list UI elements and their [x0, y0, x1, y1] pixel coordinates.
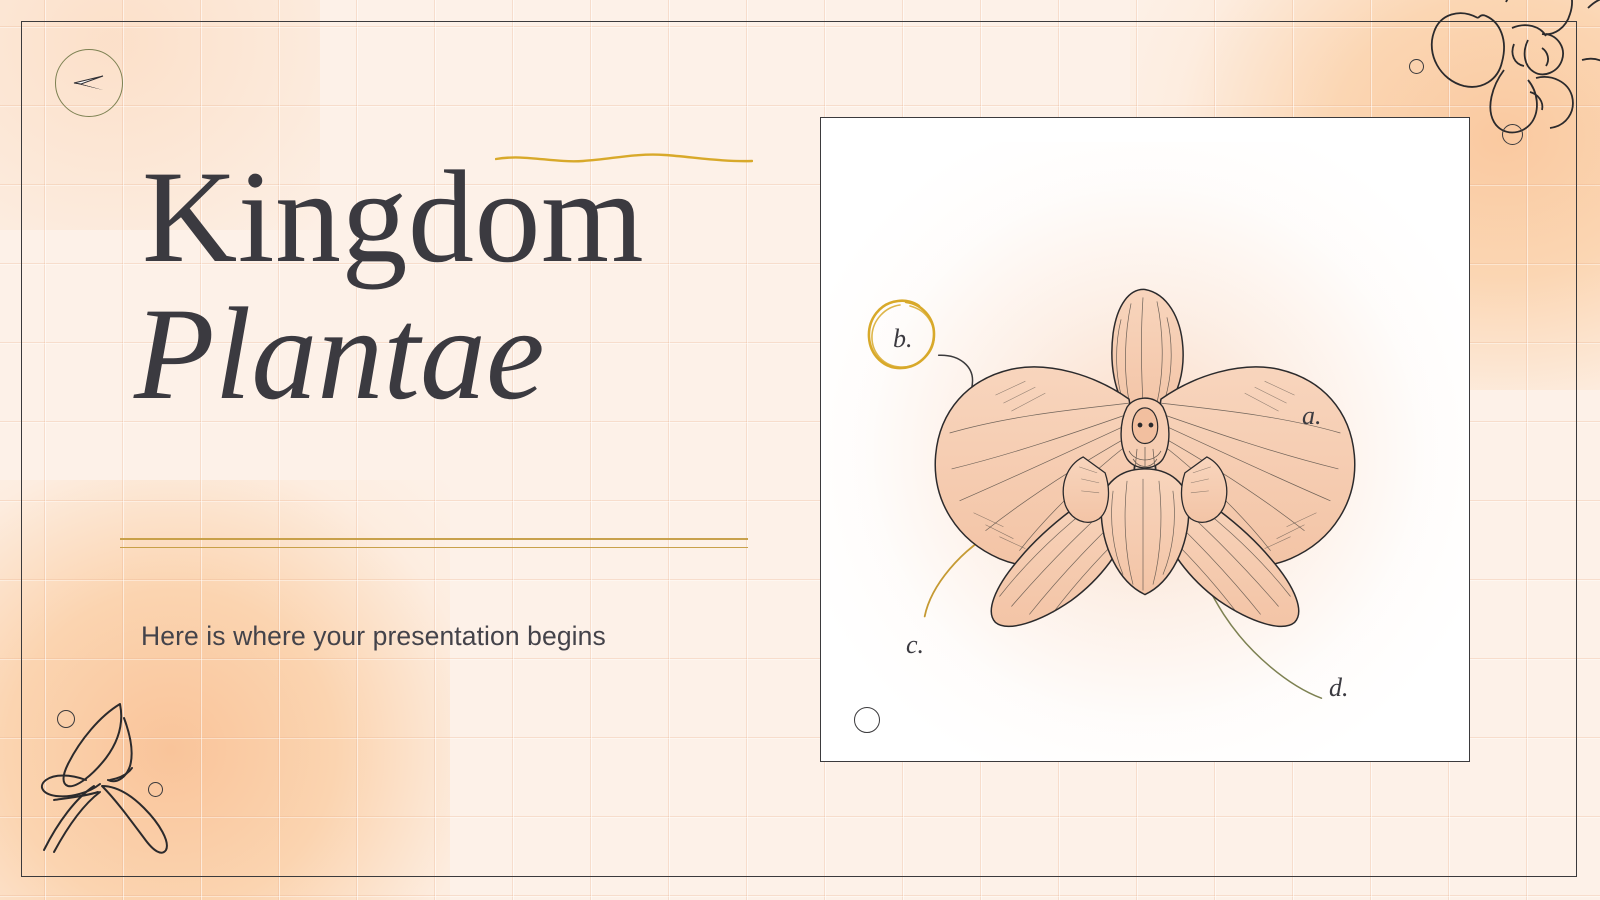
diagram-card: a. b. c. d. [820, 117, 1470, 762]
title-block: Kingdom Plantae [120, 150, 800, 421]
decorative-circle-1 [1409, 59, 1424, 74]
decorative-circle-4 [148, 782, 163, 797]
card-corner-circle [854, 707, 880, 733]
presentation-slide: Kingdom Plantae Here is where your prese… [0, 0, 1600, 900]
diagram-label-d: d. [1329, 673, 1349, 703]
orchid-bloom-outline-icon [1382, 0, 1600, 164]
diagram-label-b: b. [893, 324, 913, 354]
title-squiggle-underline [495, 150, 753, 168]
page-title-secondary: Plantae [134, 287, 800, 422]
orchid-bud-outline-icon [24, 682, 214, 872]
diagram-label-a: a. [1302, 401, 1322, 431]
paper-plane-icon [72, 72, 106, 94]
page-title-primary: Kingdom [142, 150, 800, 285]
decorative-circle-2 [1502, 124, 1523, 145]
decorative-circle-3 [57, 710, 75, 728]
logo-badge[interactable] [55, 49, 123, 117]
slide-subtitle: Here is where your presentation begins [141, 621, 606, 652]
divider-double-rule [120, 538, 748, 549]
orchid-diagram [821, 118, 1469, 761]
diagram-label-c: c. [906, 630, 924, 660]
